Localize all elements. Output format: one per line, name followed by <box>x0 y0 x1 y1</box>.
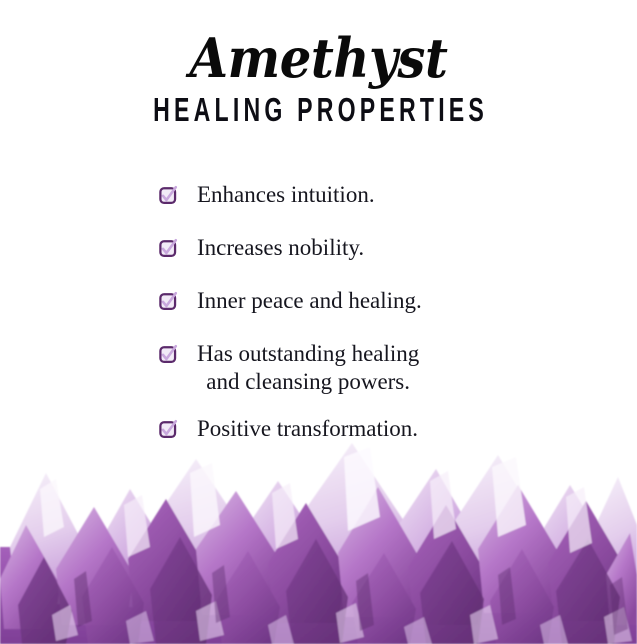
list-item: Has outstanding healing and cleansing po… <box>0 340 637 394</box>
amethyst-healing-properties-poster: Amethyst HEALING PROPERTIES Enhances int… <box>0 0 637 644</box>
page-title: Amethyst <box>25 30 611 87</box>
list-item-label: Has outstanding healing and cleansing po… <box>197 340 419 394</box>
list-item-label: Increases nobility. <box>197 234 364 261</box>
checkbox-checked-icon <box>159 239 178 258</box>
checkbox-checked-icon <box>159 345 178 364</box>
header: Amethyst HEALING PROPERTIES <box>0 0 637 126</box>
checkbox-checked-icon <box>159 292 178 311</box>
healing-properties-list: Enhances intuition. Increases nobility. … <box>0 181 637 468</box>
list-item-label: Enhances intuition. <box>197 181 375 208</box>
list-item: Increases nobility. <box>0 234 637 261</box>
list-item: Enhances intuition. <box>0 181 637 208</box>
page-subtitle: HEALING PROPERTIES <box>96 93 542 126</box>
amethyst-crystal-image <box>0 429 637 644</box>
checkbox-checked-icon <box>159 186 178 205</box>
list-item-label: Inner peace and healing. <box>197 287 422 314</box>
list-item: Inner peace and healing. <box>0 287 637 314</box>
